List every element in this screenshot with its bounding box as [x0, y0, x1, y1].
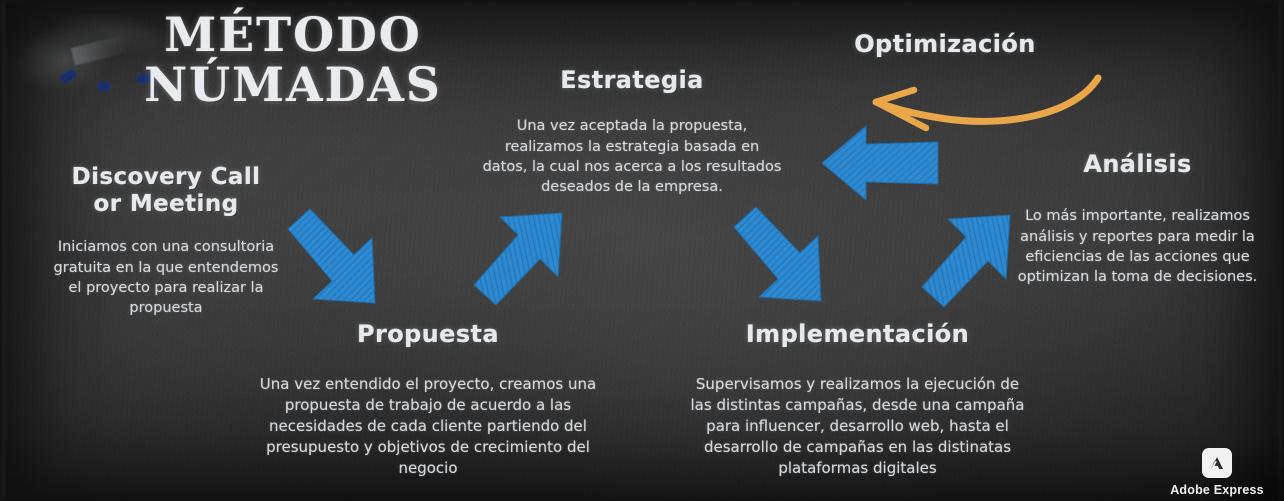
curved-arrow-left-icon — [852, 72, 1120, 134]
adobe-express-logo-icon — [1202, 448, 1232, 478]
adobe-express-label: Adobe Express — [1158, 483, 1276, 497]
board-edge-left — [0, 0, 7, 501]
step-discovery-call-heading-line-2: or Meeting — [94, 191, 239, 217]
step-discovery-call-heading-line-1: Discovery Call — [72, 164, 261, 190]
step-discovery-call-body: Iniciamos con una consultoria gratuita e… — [48, 237, 284, 318]
step-analisis: Análisis Lo más importante, realizamos a… — [1005, 150, 1270, 288]
step-discovery-call: Discovery Call or Meeting Iniciamos con … — [48, 164, 284, 318]
step-analisis-heading: Análisis — [1005, 150, 1270, 178]
arrow-up-right-icon — [918, 203, 1030, 315]
step-estrategia: Estrategia Una vez aceptada la propuesta… — [482, 66, 782, 198]
step-estrategia-heading: Estrategia — [482, 66, 782, 94]
board-edge-top — [0, 0, 1284, 5]
step-propuesta: Propuesta Una vez entendido el proyecto,… — [258, 320, 598, 479]
page-title-line-1: MÉTODO — [128, 12, 458, 60]
step-analisis-body: Lo más importante, realizamos análisis y… — [1005, 206, 1270, 287]
board-edge-bottom — [0, 496, 1284, 501]
step-implementacion-body: Supervisamos y realizamos la ejecución d… — [690, 374, 1025, 479]
page-title: MÉTODO NÚMADAS — [128, 12, 458, 110]
step-optimizacion: Optimización — [845, 30, 1045, 58]
arrow-down-right-icon — [280, 207, 392, 319]
step-propuesta-body: Una vez entendido el proyecto, creamos u… — [258, 374, 598, 479]
arrow-down-right-icon — [728, 203, 840, 315]
adobe-express-watermark[interactable]: Adobe Express — [1158, 448, 1276, 497]
step-implementacion: Implementación Supervisamos y realizamos… — [690, 320, 1025, 479]
blue-chalk-mark — [97, 81, 110, 92]
step-optimizacion-heading: Optimización — [845, 30, 1045, 58]
arrow-up-right-icon — [470, 203, 582, 315]
chalkboard-infographic: MÉTODO NÚMADAS Discovery Call or Meeting… — [0, 0, 1284, 501]
step-implementacion-heading: Implementación — [690, 320, 1025, 348]
step-estrategia-body: Una vez aceptada la propuesta, realizamo… — [482, 116, 782, 197]
board-edge-right — [1277, 0, 1284, 501]
arrow-left-icon — [818, 122, 942, 204]
step-propuesta-heading: Propuesta — [258, 320, 598, 348]
step-discovery-call-heading: Discovery Call or Meeting — [48, 164, 284, 218]
page-title-line-2: NÚMADAS — [128, 62, 458, 110]
